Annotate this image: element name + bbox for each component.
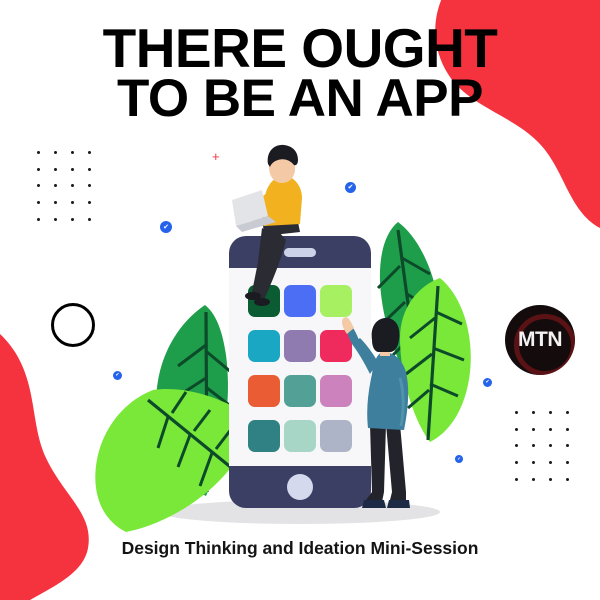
phone-home-button xyxy=(287,474,313,500)
smartphone xyxy=(229,236,371,508)
app-icon-2[interactable] xyxy=(284,285,316,317)
seated-person-shoe-near xyxy=(254,298,270,306)
app-icon-7[interactable] xyxy=(248,375,280,407)
phone-speaker xyxy=(284,248,316,257)
app-icon-9[interactable] xyxy=(320,375,352,407)
app-icon-8[interactable] xyxy=(284,375,316,407)
app-icon-5[interactable] xyxy=(284,330,316,362)
app-icon-3[interactable] xyxy=(320,285,352,317)
standing-person-leg-right xyxy=(386,424,406,502)
app-icon-12[interactable] xyxy=(320,420,352,452)
standing-person-shoe-left xyxy=(362,500,386,508)
poster-canvas: + + + + + ✔ ✔ ✔ ✔ ✔ xyxy=(0,0,600,600)
app-icon-10[interactable] xyxy=(248,420,280,452)
standing-person-shoe-right xyxy=(387,500,410,508)
caption-text: Design Thinking and Ideation Mini-Sessio… xyxy=(0,538,600,559)
app-icon-4[interactable] xyxy=(248,330,280,362)
phone-illustration xyxy=(0,0,600,600)
illustration-svg xyxy=(0,0,600,600)
app-icon-11[interactable] xyxy=(284,420,316,452)
app-icon-6[interactable] xyxy=(320,330,352,362)
standing-person-hair xyxy=(372,318,400,352)
leaf-right-light xyxy=(400,278,471,442)
